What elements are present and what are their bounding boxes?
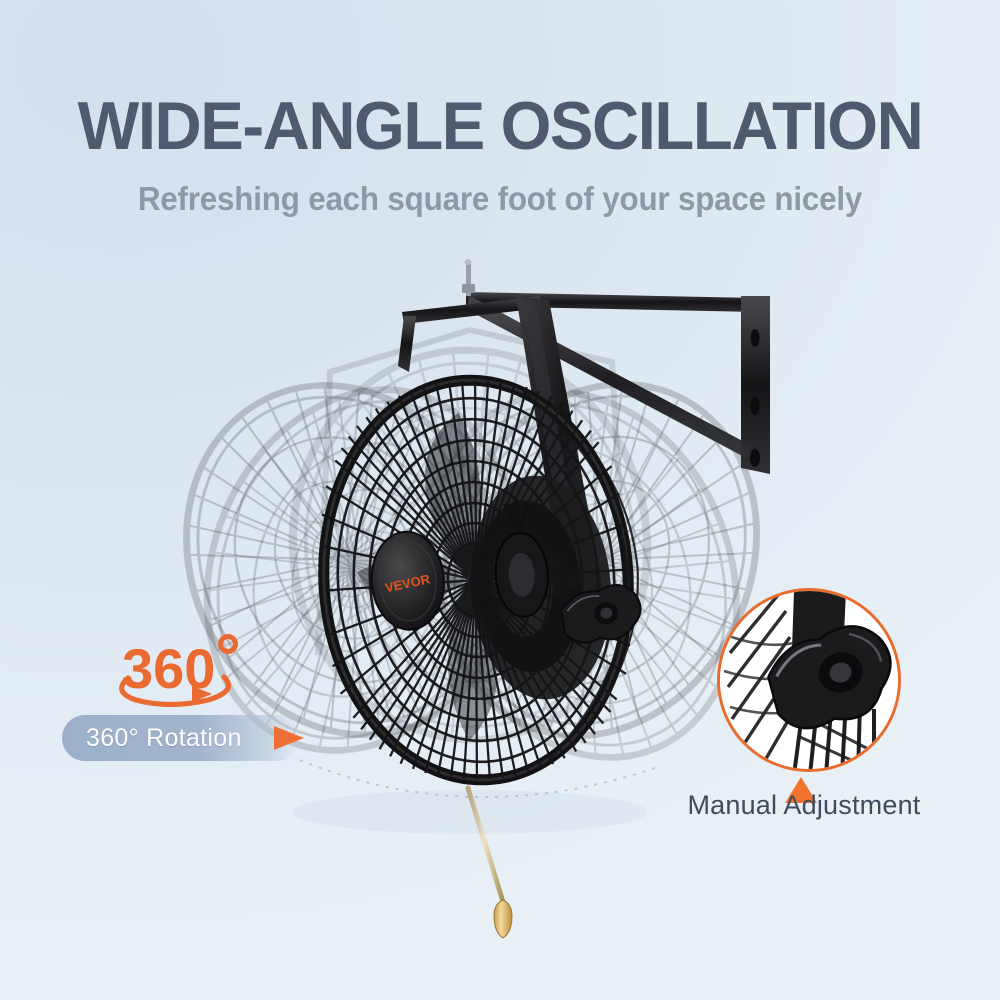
manual-adjustment-label: Manual Adjustment [604, 790, 1000, 821]
product-feature-image: WIDE-ANGLE OSCILLATION Refreshing each s… [0, 0, 1000, 1000]
rotation-360-label: 360° Rotation [86, 724, 242, 753]
adjustment-knob-closeup [720, 591, 901, 772]
pull-chain-knob [494, 900, 512, 938]
manual-adjustment-inset [717, 588, 901, 772]
triangle-right-icon [272, 723, 306, 753]
product-illustration: VEVOR [0, 0, 1000, 1000]
rotation-360-value: 360 [122, 637, 215, 700]
degree-symbol-icon [221, 637, 236, 652]
rotation-360-icon: 360 [108, 622, 248, 708]
rotation-360-pill: 360° Rotation [62, 715, 300, 761]
pivot-bolt [462, 259, 475, 296]
